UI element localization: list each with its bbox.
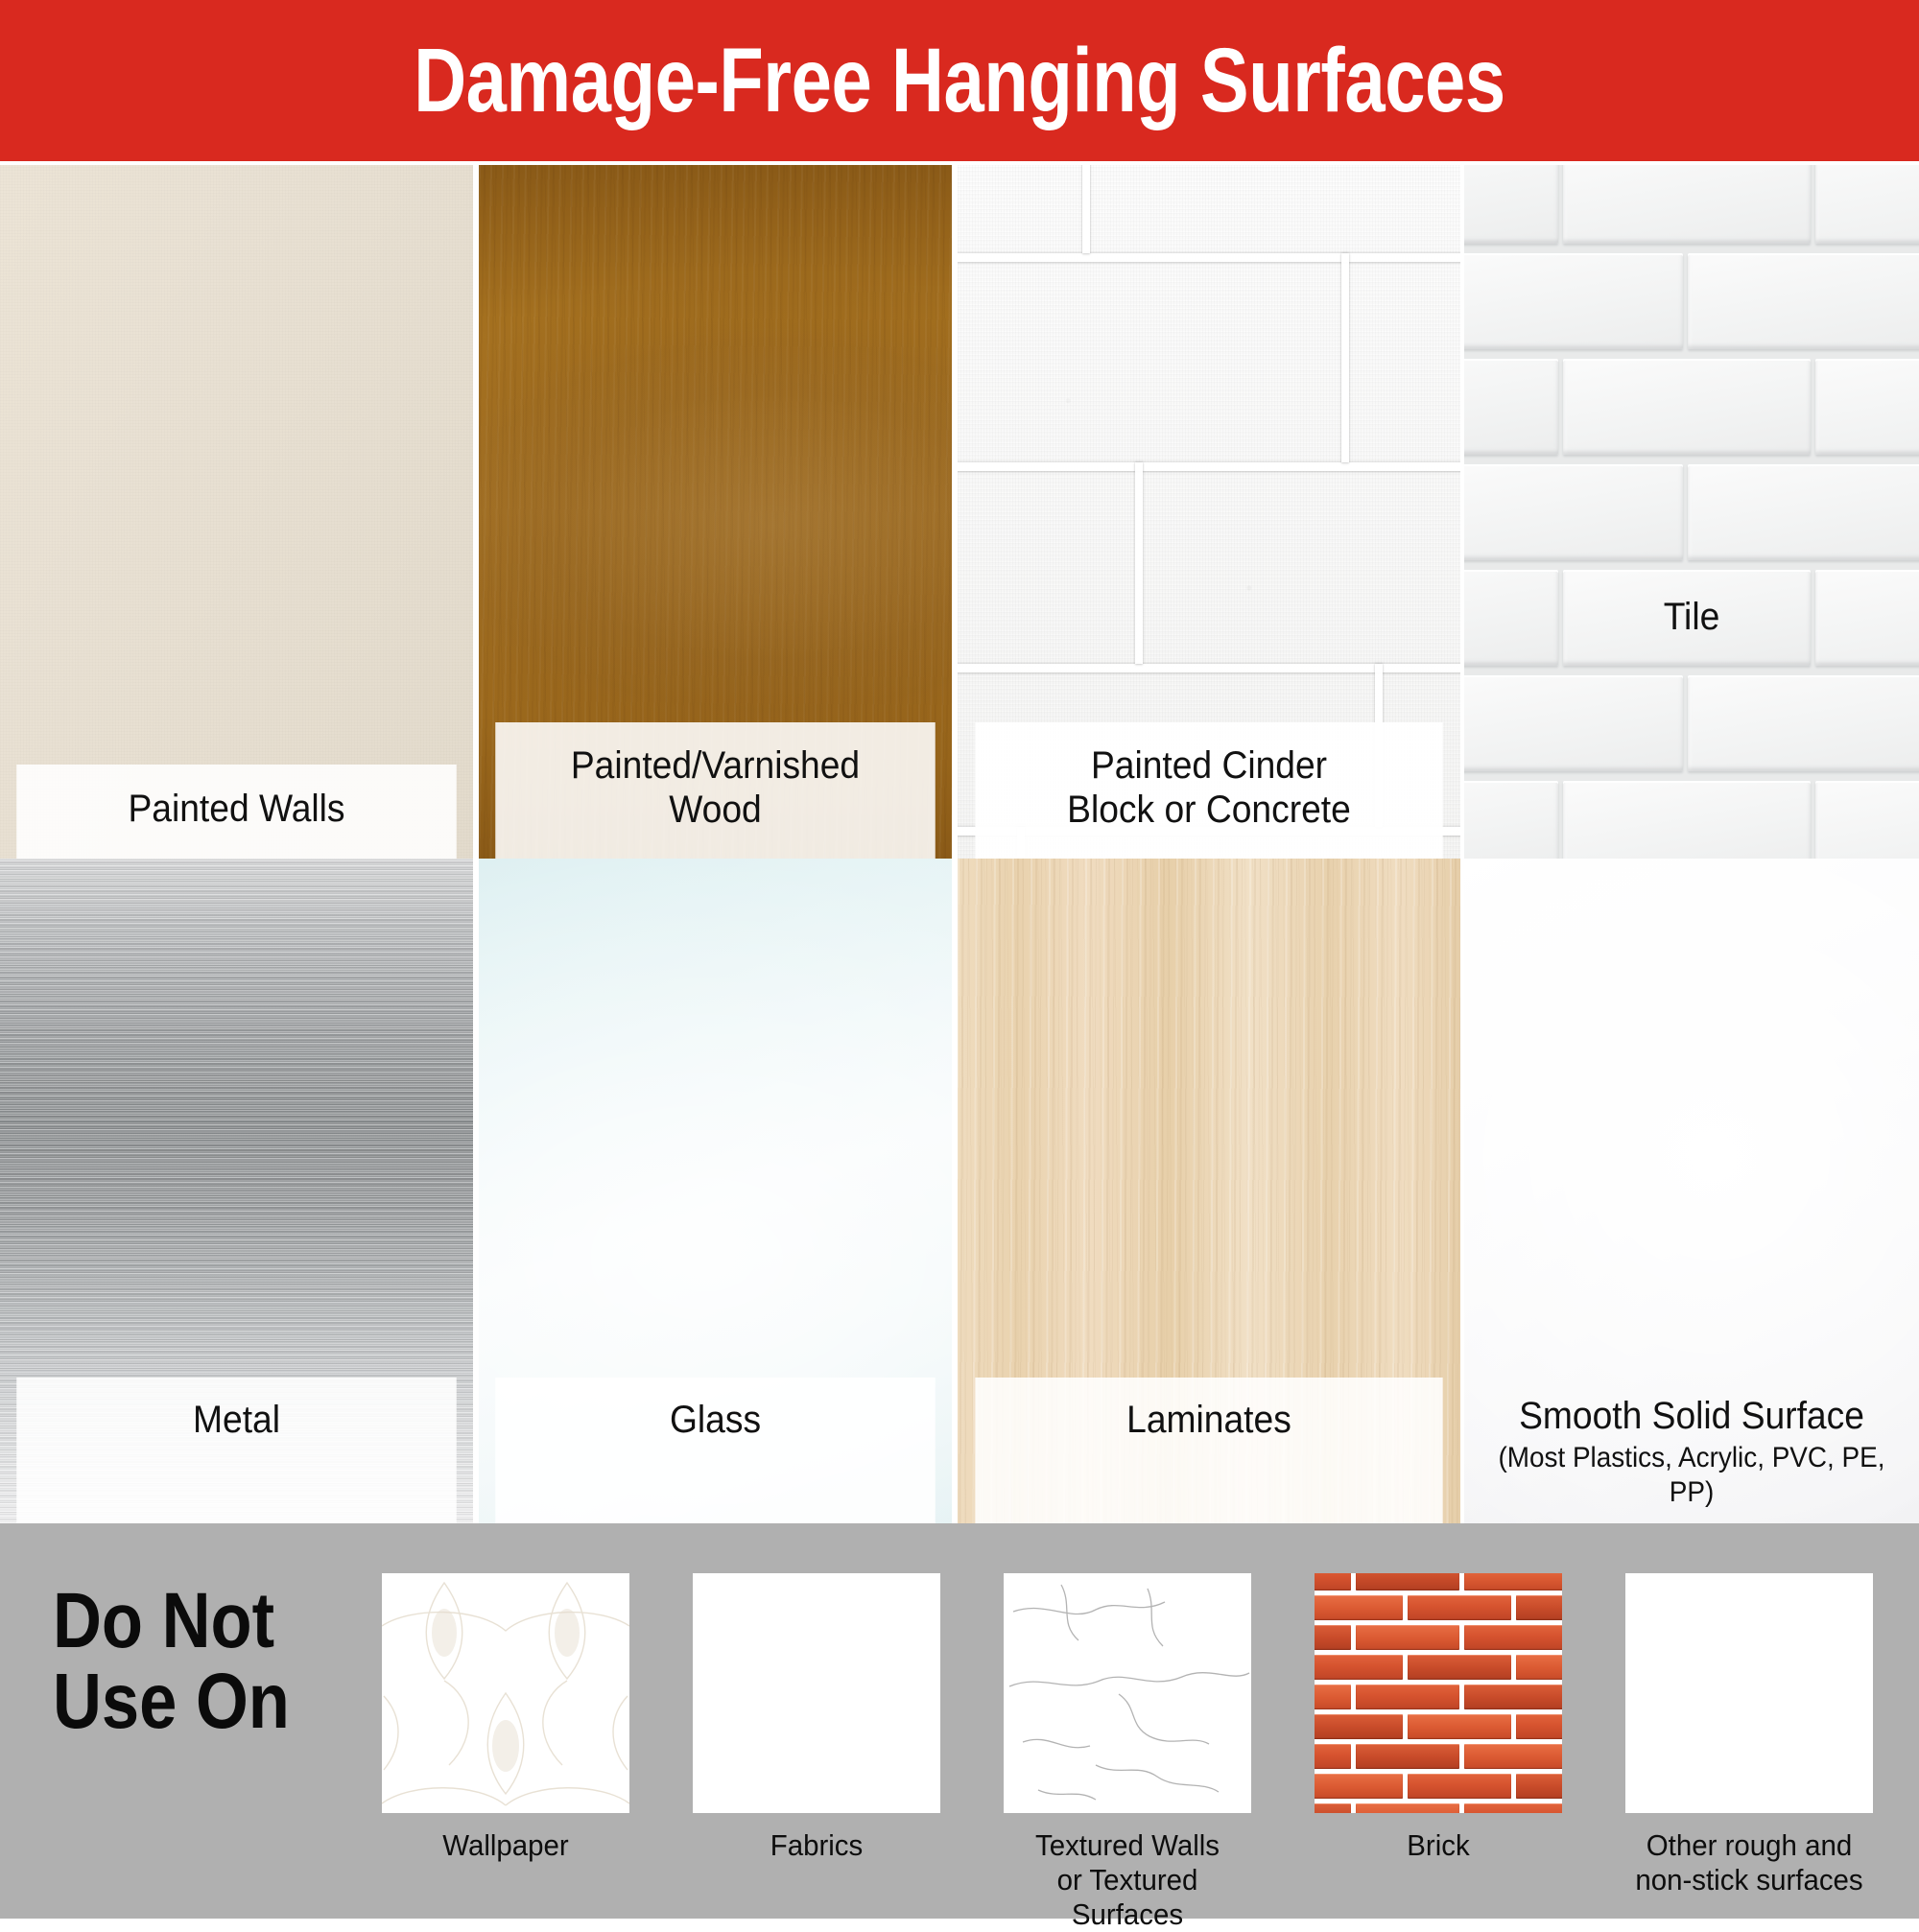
do-not-use-label-text-line2: non-stick surfaces xyxy=(1635,1863,1862,1897)
do-not-use-label-text: Other rough and xyxy=(1647,1828,1852,1862)
tile-row-group xyxy=(1464,165,1919,859)
surface-cell-glass: Glass xyxy=(479,859,952,1523)
surface-label-text: Painted/Varnished xyxy=(571,744,860,789)
brick-swatch xyxy=(1315,1573,1562,1813)
surface-label-text-line2: (Most Plastics, Acrylic, PVC, PE, PP) xyxy=(1485,1441,1898,1510)
brick-row-group xyxy=(1315,1573,1562,1813)
do-not-use-heading-line2: Use On xyxy=(53,1661,325,1742)
wallpaper-swatch xyxy=(382,1573,629,1813)
do-not-use-label-textured-walls: Textured Walls or Textured Surfaces xyxy=(1009,1828,1244,1932)
do-not-use-label-brick: Brick xyxy=(1320,1828,1555,1863)
painted-wall-texture xyxy=(0,165,473,859)
surface-label-text: Smooth Solid Surface xyxy=(1519,1395,1864,1439)
surface-label-tile: Tile xyxy=(1481,573,1904,667)
surface-cell-metal: Metal xyxy=(0,859,473,1523)
surface-cell-laminates: Laminates xyxy=(958,859,1460,1523)
damask-pattern-icon xyxy=(382,1573,629,1813)
do-not-use-label-text: Wallpaper xyxy=(442,1828,569,1862)
surface-cell-painted-varnished-wood: Painted/Varnished Wood xyxy=(479,165,952,859)
surface-cell-smooth-solid-surface: Smooth Solid Surface (Most Plastics, Acr… xyxy=(1464,859,1919,1523)
do-not-use-heading: Do Not Use On xyxy=(53,1581,325,1741)
do-not-use-label-text: Brick xyxy=(1407,1828,1469,1862)
do-not-use-item-wallpaper: Wallpaper xyxy=(382,1573,629,1863)
subway-tile-texture xyxy=(1464,165,1919,859)
do-not-use-label-fabrics: Fabrics xyxy=(699,1828,934,1863)
surface-label-text: Tile xyxy=(1664,596,1720,640)
surface-cell-painted-walls: Painted Walls xyxy=(0,165,473,859)
surface-label-text: Metal xyxy=(193,1399,280,1443)
do-not-use-label-text: Fabrics xyxy=(770,1828,864,1862)
do-not-use-heading-line1: Do Not xyxy=(53,1581,325,1661)
surface-label-text: Glass xyxy=(670,1399,761,1443)
do-not-use-label-text-line2: or Textured Surfaces xyxy=(1057,1863,1198,1931)
do-not-use-item-other-rough: Other rough and non-stick surfaces xyxy=(1625,1573,1873,1897)
page-title: Damage-Free Hanging Surfaces xyxy=(414,35,1505,127)
surface-label-text-line2: Block or Concrete xyxy=(1067,789,1351,833)
surface-label-text-line2: Wood xyxy=(669,789,762,833)
do-not-use-item-brick: Brick xyxy=(1315,1573,1562,1863)
header-banner: Damage-Free Hanging Surfaces xyxy=(0,0,1919,161)
surface-label-painted-cinder-block: Painted Cinder Block or Concrete xyxy=(975,722,1442,859)
surface-label-glass: Glass xyxy=(495,1378,935,1523)
surface-label-painted-walls: Painted Walls xyxy=(16,765,456,859)
do-not-use-label-wallpaper: Wallpaper xyxy=(388,1828,623,1863)
surface-label-text: Painted Walls xyxy=(128,788,344,832)
do-not-use-section: Do Not Use On xyxy=(0,1523,1919,1919)
crack-lines-icon xyxy=(1004,1573,1251,1813)
surface-label-painted-varnished-wood: Painted/Varnished Wood xyxy=(495,722,935,859)
surface-label-text: Painted Cinder xyxy=(1091,744,1327,789)
surface-label-text: Laminates xyxy=(1126,1399,1291,1443)
surface-cell-painted-cinder-block: Painted Cinder Block or Concrete xyxy=(958,165,1460,859)
do-not-use-item-textured-walls: Textured Walls or Textured Surfaces xyxy=(1004,1573,1251,1932)
textured-wall-swatch xyxy=(1004,1573,1251,1813)
surface-cell-tile: Tile xyxy=(1464,165,1919,859)
rough-surface-swatch xyxy=(1625,1573,1873,1813)
do-not-use-label-other-rough: Other rough and non-stick surfaces xyxy=(1631,1828,1866,1897)
do-not-use-item-fabrics: Fabrics xyxy=(693,1573,940,1863)
do-not-use-label-text: Textured Walls xyxy=(1035,1828,1220,1862)
fabric-swatch xyxy=(693,1573,940,1813)
surface-label-metal: Metal xyxy=(16,1378,456,1523)
surface-label-laminates: Laminates xyxy=(975,1378,1442,1523)
approved-surfaces-grid: Painted Walls Painted/Varnished Wood xyxy=(0,165,1919,1523)
surface-label-smooth-solid-surface: Smooth Solid Surface (Most Plastics, Acr… xyxy=(1481,1378,1904,1523)
infographic-page: Damage-Free Hanging Surfaces Painted Wal… xyxy=(0,0,1919,1919)
